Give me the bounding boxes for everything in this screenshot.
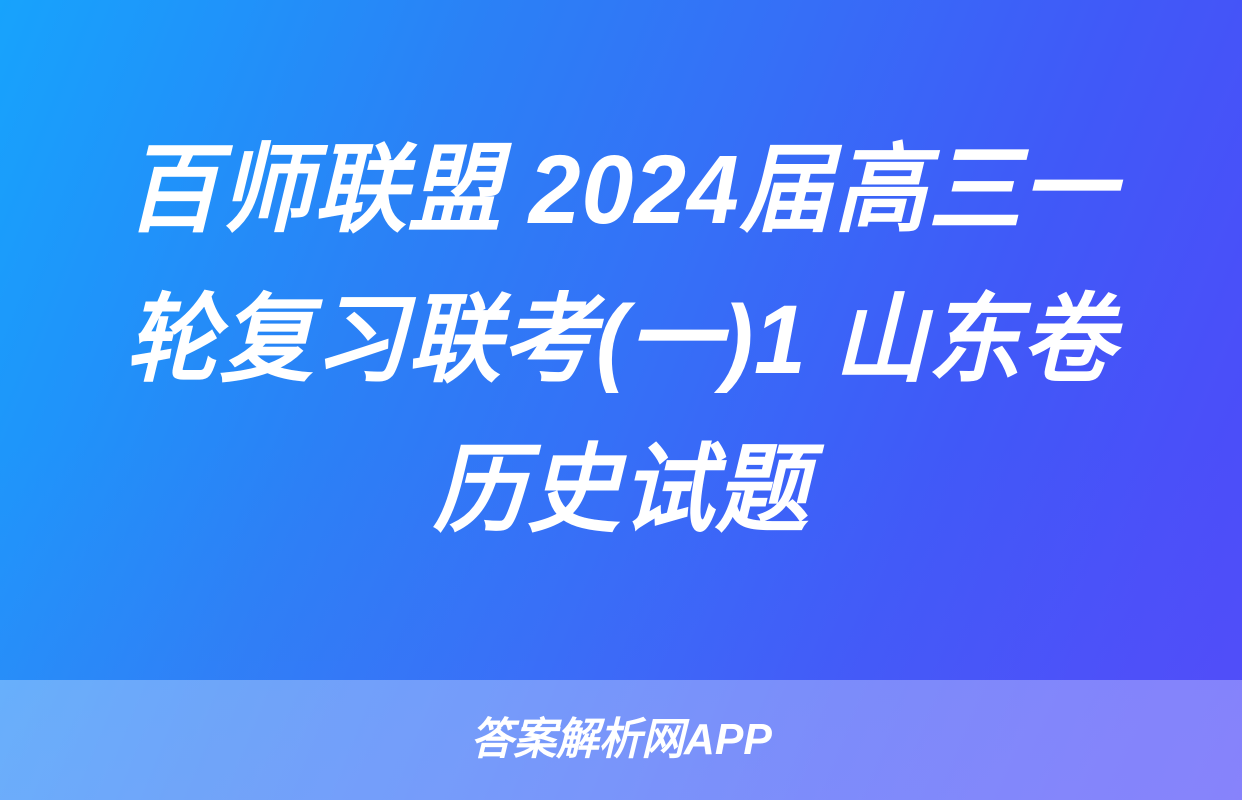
- title-card: 百师联盟 2024届高三一 轮复习联考(一)1 山东卷 历史试题 答案解析网AP…: [0, 0, 1242, 800]
- watermark-label: 答案解析网APP: [470, 716, 771, 764]
- title-line-2: 轮复习联考(一)1 山东卷: [126, 265, 1116, 415]
- watermark-band: 答案解析网APP: [0, 680, 1242, 800]
- title-line-1: 百师联盟 2024届高三一: [126, 115, 1116, 265]
- title-line-3: 历史试题: [433, 415, 809, 565]
- title-block: 百师联盟 2024届高三一 轮复习联考(一)1 山东卷 历史试题: [0, 0, 1242, 680]
